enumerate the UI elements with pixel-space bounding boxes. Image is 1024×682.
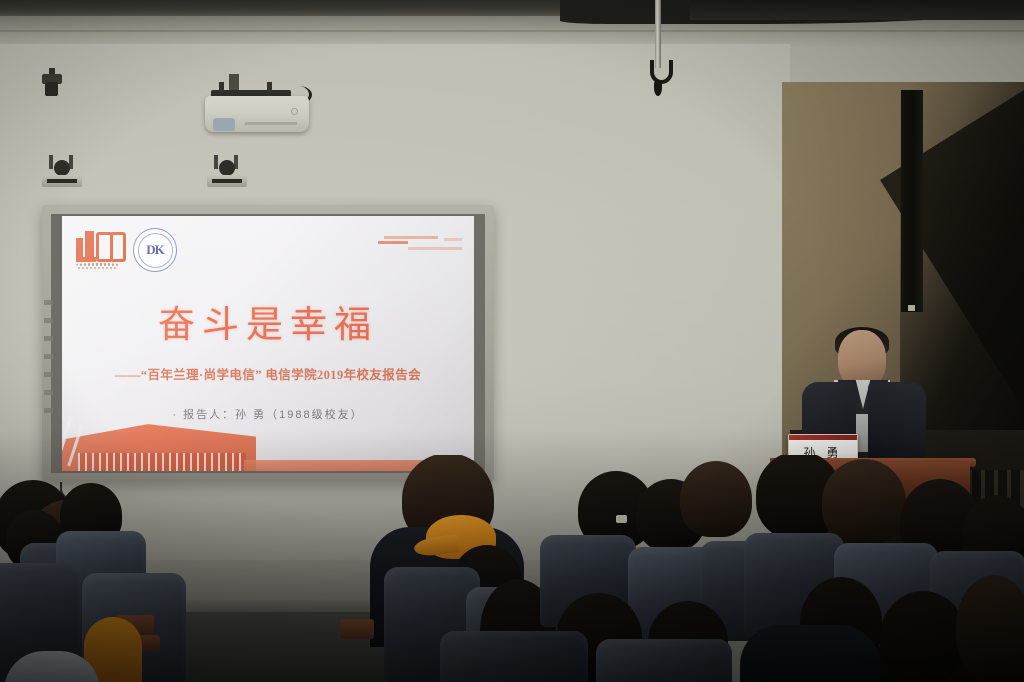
ceiling-hanging-rod xyxy=(655,0,661,68)
seal-monogram: DK xyxy=(134,229,176,271)
audience-head xyxy=(956,575,1024,679)
slide-subtitle: ——“百年兰理·尚学电信” 电信学院2019年校友报告会 xyxy=(62,364,474,383)
audience-area xyxy=(0,455,1024,682)
whiteboard-side-buttons[interactable] xyxy=(44,300,53,420)
ceiling-hook-icon xyxy=(650,60,673,84)
wall-speaker-right-icon xyxy=(207,155,247,189)
slide-logo-group: DK xyxy=(76,228,177,272)
ceiling-projector-icon xyxy=(205,96,309,140)
audience-shoulder xyxy=(740,625,880,682)
ceiling-seam xyxy=(0,30,1024,32)
audience-seat xyxy=(596,639,732,682)
projected-slide: DK 奋斗是幸福 ——“百年兰理·尚学电信” 电信学院2019年校友报告会 · … xyxy=(62,216,474,471)
hair-clip xyxy=(616,515,627,523)
slide-title: 奋斗是幸福 xyxy=(62,294,474,348)
audience-seat xyxy=(440,631,588,682)
audience-head xyxy=(680,461,752,537)
ceiling-hook-tip xyxy=(654,80,662,96)
audience-head xyxy=(822,459,906,545)
ceiling-dark-band xyxy=(690,0,1024,20)
lecture-hall-photo: DK 奋斗是幸福 ——“百年兰理·尚学电信” 电信学院2019年校友报告会 · … xyxy=(0,0,1024,682)
nameplate-color-bar xyxy=(789,435,857,440)
speaker-indicator-light xyxy=(908,305,915,311)
audience-head xyxy=(880,591,966,682)
anniversary-100-logo-icon xyxy=(76,228,122,270)
ceiling-camera-icon xyxy=(42,68,62,96)
slide-decoration-lines xyxy=(378,234,462,256)
wall-speaker-left-icon xyxy=(42,155,82,189)
seat-armrest xyxy=(340,619,374,639)
university-seal-icon: DK xyxy=(133,228,177,272)
wall-column-speaker xyxy=(901,90,923,312)
